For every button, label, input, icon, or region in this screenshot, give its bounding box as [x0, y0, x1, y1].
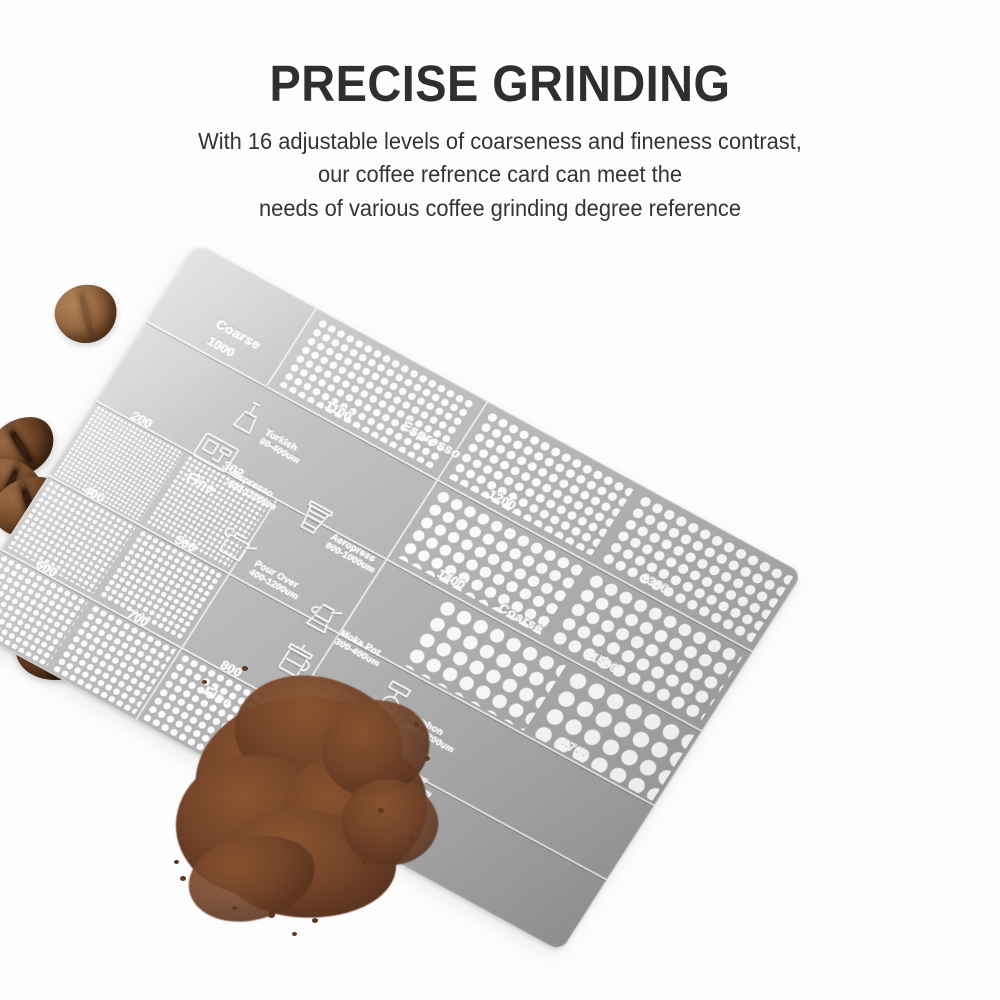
- coffee-bean: [49, 278, 123, 349]
- ground-coffee-pile: [172, 660, 502, 950]
- brew-label-turkish: Turkish 80-400um: [258, 426, 308, 465]
- page-root: PRECISE GRINDING With 16 adjustable leve…: [0, 0, 1000, 1000]
- subtitle-line-3: needs of various coffee grinding degree …: [35, 192, 965, 225]
- header-block: PRECISE GRINDING With 16 adjustable leve…: [0, 58, 1000, 225]
- subtitle-line-2: our coffee refrence card can meet the: [35, 158, 965, 191]
- brew-label-aeropress: Aeropress 800-1000um: [324, 530, 384, 574]
- subtitle-line-1: With 16 adjustable levels of coarseness …: [35, 125, 965, 158]
- brew-label-pourover: Pour Over 400-1200um: [247, 557, 307, 601]
- page-title: PRECISE GRINDING: [40, 58, 960, 109]
